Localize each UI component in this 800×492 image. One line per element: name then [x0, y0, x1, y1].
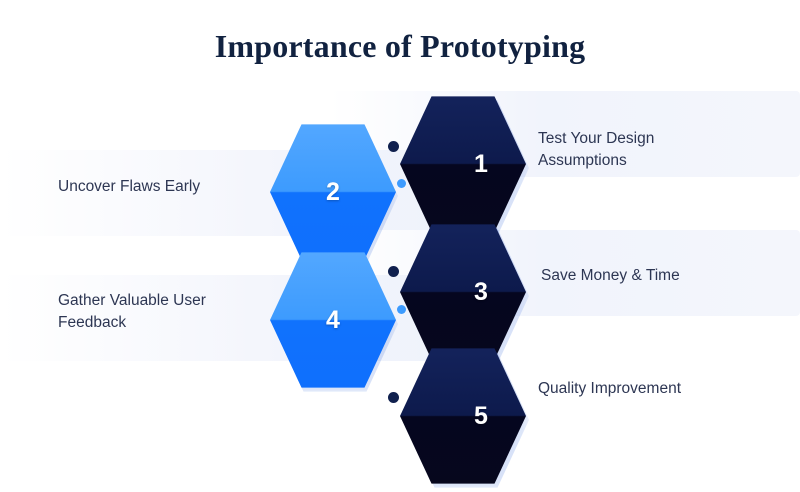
infographic-stage: 1 Test Your Design Assumptions 2 Uncover…	[0, 0, 800, 482]
hexagon-item-2[interactable]: 2	[270, 120, 396, 264]
connector-dot-navy-3	[388, 266, 399, 277]
hexagon-fill-5	[400, 344, 526, 488]
hexagon-number-1: 1	[474, 150, 488, 179]
item-label-2: Uncover Flaws Early	[58, 176, 278, 198]
item-label-4: Gather Valuable User Feedback	[58, 290, 258, 335]
hexagon-item-1[interactable]: 1	[400, 92, 526, 236]
hexagon-fill-3	[400, 220, 526, 364]
item-label-3: Save Money & Time	[541, 265, 751, 287]
connector-dot-navy-1	[388, 141, 399, 152]
hexagon-item-4[interactable]: 4	[270, 248, 396, 392]
hexagon-item-5[interactable]: 5	[400, 344, 526, 488]
hexagon-item-3[interactable]: 3	[400, 220, 526, 364]
connector-dot-light-1	[397, 179, 406, 188]
item-label-5: Quality Improvement	[538, 378, 698, 400]
item-label-1: Test Your Design Assumptions	[538, 128, 728, 173]
hexagon-number-5: 5	[474, 402, 488, 431]
hexagon-number-4: 4	[326, 306, 340, 335]
hexagon-number-3: 3	[474, 278, 488, 307]
hexagon-fill-1	[400, 92, 526, 236]
hexagon-number-2: 2	[326, 178, 340, 207]
connector-dot-light-3	[397, 305, 406, 314]
connector-dot-navy-5	[388, 392, 399, 403]
